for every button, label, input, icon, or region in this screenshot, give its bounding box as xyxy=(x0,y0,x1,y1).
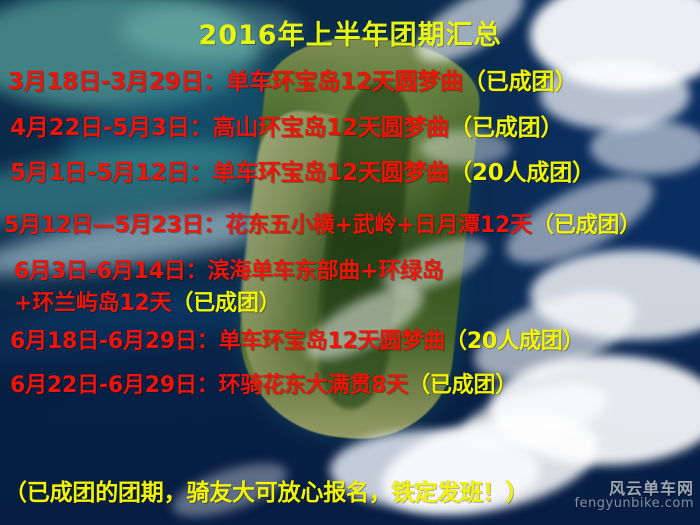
schedule-dates: 6月18日-6月29日 xyxy=(10,329,197,354)
schedule-tour: 环骑花东大满贯8天 xyxy=(219,373,409,398)
status-badge: （已成团） xyxy=(463,69,577,95)
status-badge: （已成团） xyxy=(532,213,641,238)
schedule-dates: 5月1日-5月12日 xyxy=(10,160,190,186)
schedule-separator: ： xyxy=(190,160,213,186)
schedule-tour: 高山环宝岛12天圆梦曲 xyxy=(212,115,449,141)
schedule-separator: ： xyxy=(190,115,213,141)
status-badge: （已成团） xyxy=(171,291,280,316)
status-badge: （已成团） xyxy=(449,115,563,141)
schedule-tour: 单车环宝岛12天圆梦曲 xyxy=(212,160,449,186)
schedule-line-1: 3月18日-3月29日：单车环宝岛12天圆梦曲（已成团） xyxy=(8,62,577,96)
schedule-separator: ： xyxy=(204,213,226,238)
schedule-dates: 4月22日-5月3日 xyxy=(10,115,190,141)
schedule-separator: ： xyxy=(197,373,219,398)
schedule-tour-wrap: +环兰屿岛12天 xyxy=(14,291,171,316)
poster-text-layer: 2016年上半年团期汇总 3月18日-3月29日：单车环宝岛12天圆梦曲（已成团… xyxy=(0,0,700,525)
schedule-separator: ： xyxy=(203,69,226,95)
schedule-dates: 5月12日—5月23日 xyxy=(4,213,204,238)
schedule-line-7: 6月22日-6月29日：环骑花东大满贯8天（已成团） xyxy=(10,367,517,399)
schedule-line-2: 4月22日-5月3日：高山环宝岛12天圆梦曲（已成团） xyxy=(10,108,563,142)
schedule-line-3: 5月1日-5月12日：单车环宝岛12天圆梦曲（20人成团） xyxy=(10,153,595,187)
schedule-tour: 单车环宝岛12天圆梦曲 xyxy=(219,329,445,354)
schedule-line-4: 5月12日—5月23日：花东五小横+武岭+日月潭12天（已成团） xyxy=(4,207,641,239)
status-badge: （已成团） xyxy=(408,373,517,398)
schedule-tour: 滨海单车东部曲+环绿岛 xyxy=(207,259,443,284)
schedule-separator: ： xyxy=(197,329,219,354)
schedule-dates: 6月3日-6月14日 xyxy=(14,259,186,284)
schedule-tour: 花东五小横+武岭+日月潭12天 xyxy=(225,213,531,238)
schedule-separator: ： xyxy=(186,259,208,284)
poster-title: 2016年上半年团期汇总 xyxy=(0,13,700,52)
watermark-site-name: 风云单车网 xyxy=(574,481,694,498)
watermark-site-url: fengyunbike.com xyxy=(574,497,694,511)
status-badge: （20人成团） xyxy=(449,160,595,186)
schedule-dates: 6月22日-6月29日 xyxy=(10,373,197,398)
schedule-line-6: 6月18日-6月29日：单车环宝岛12天圆梦曲（20人成团） xyxy=(10,323,584,355)
site-watermark: 风云单车网 fengyunbike.com xyxy=(574,481,694,511)
status-badge: （20人成团） xyxy=(445,329,584,354)
schedule-line-5-continued: +环兰屿岛12天（已成团） xyxy=(14,285,280,317)
schedule-line-5: 6月3日-6月14日：滨海单车东部曲+环绿岛 xyxy=(14,253,444,285)
schedule-dates: 3月18日-3月29日 xyxy=(8,69,203,95)
promo-poster: 2016年上半年团期汇总 3月18日-3月29日：单车环宝岛12天圆梦曲（已成团… xyxy=(0,0,700,525)
schedule-tour: 单车环宝岛12天圆梦曲 xyxy=(226,69,463,95)
poster-footer-note: （已成团的团期，骑友大可放心报名，铁定发班！） xyxy=(4,473,528,507)
